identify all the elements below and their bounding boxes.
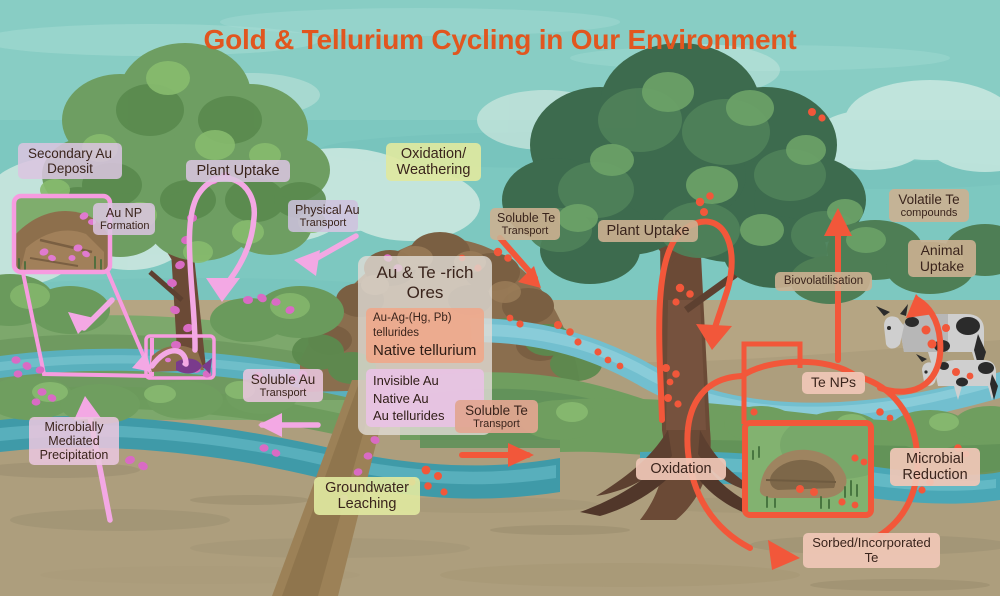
label-soluble-au-transport-main: Soluble Au xyxy=(250,372,316,387)
label-animal-uptake: AnimalUptake xyxy=(908,240,976,277)
label-plant-uptake-left: Plant Uptake xyxy=(186,160,290,182)
label-microbially-mediated-precipitation-main: Microbially xyxy=(36,420,112,434)
label-plant-uptake-right-main: Plant Uptake xyxy=(605,223,691,239)
label-oxidation: Oxidation xyxy=(636,458,726,480)
label-secondary-au-deposit: Secondary AuDeposit xyxy=(18,143,122,179)
ore-panel-title: Au & Te -rich Ores xyxy=(366,262,484,308)
label-microbially-mediated-precipitation-line2: Mediated xyxy=(36,434,112,448)
te-mineral-line-1: Au-Ag-(Hg, Pb) tellurides xyxy=(373,311,477,341)
label-soluble-te-transport-upper-main: Soluble Te xyxy=(497,211,553,225)
label-biovolatilisation: Biovolatilisation xyxy=(775,272,872,291)
label-soluble-te-transport-upper: Soluble TeTransport xyxy=(490,208,560,240)
label-volatile-te-compounds-main: Volatile Te xyxy=(896,192,962,207)
label-te-nps-main: Te NPs xyxy=(809,375,858,391)
label-microbially-mediated-precipitation: MicrobiallyMediatedPrecipitation xyxy=(29,417,119,465)
tellurium-minerals-group: Au-Ag-(Hg, Pb) tellurides Native telluri… xyxy=(366,308,484,363)
label-volatile-te-compounds: Volatile Tecompounds xyxy=(889,189,969,222)
label-soluble-au-transport: Soluble AuTransport xyxy=(243,369,323,402)
label-physical-au-transport-main: Physical Au xyxy=(295,203,351,217)
label-microbially-mediated-precipitation-line3: Precipitation xyxy=(36,448,112,462)
label-biovolatilisation-main: Biovolatilisation xyxy=(782,275,865,288)
label-microbial-reduction-main: Microbial xyxy=(897,451,973,467)
label-te-nps: Te NPs xyxy=(802,372,865,394)
label-physical-au-transport-sub: Transport xyxy=(295,217,351,229)
diagram-canvas: Gold & Tellurium Cycling in Our Environm… xyxy=(0,0,1000,596)
label-secondary-au-deposit-line2: Deposit xyxy=(25,161,115,176)
label-soluble-te-transport-lower-main: Soluble Te xyxy=(462,403,531,418)
label-soluble-te-transport-lower: Soluble TeTransport xyxy=(455,400,538,433)
label-oxidation-weathering-line2: Weathering xyxy=(393,162,474,178)
label-microbial-reduction-line2: Reduction xyxy=(897,467,973,483)
label-groundwater-leaching-main: Groundwater xyxy=(321,480,413,496)
label-groundwater-leaching-line2: Leaching xyxy=(321,496,413,512)
label-au-np-formation-sub: Formation xyxy=(100,220,148,232)
label-sorbed-incorporated-te: Sorbed/IncorporatedTe xyxy=(803,533,940,568)
label-oxidation-main: Oxidation xyxy=(643,461,719,477)
label-sorbed-incorporated-te-line2: Te xyxy=(810,551,933,566)
label-volatile-te-compounds-sub: compounds xyxy=(896,207,962,219)
page-title: Gold & Tellurium Cycling in Our Environm… xyxy=(0,24,1000,56)
label-animal-uptake-line2: Uptake xyxy=(915,259,969,275)
label-physical-au-transport: Physical AuTransport xyxy=(288,200,358,232)
label-microbial-reduction: MicrobialReduction xyxy=(890,448,980,486)
label-animal-uptake-main: Animal xyxy=(915,243,969,259)
label-soluble-te-transport-lower-sub: Transport xyxy=(462,418,531,430)
au-mineral-line-1: Invisible Au xyxy=(373,372,477,389)
label-groundwater-leaching: GroundwaterLeaching xyxy=(314,477,420,515)
label-oxidation-weathering-main: Oxidation/ xyxy=(393,146,474,162)
label-soluble-te-transport-upper-sub: Transport xyxy=(497,225,553,237)
label-sorbed-incorporated-te-main: Sorbed/Incorporated xyxy=(810,536,933,551)
label-plant-uptake-right: Plant Uptake xyxy=(598,220,698,242)
label-oxidation-weathering: Oxidation/Weathering xyxy=(386,143,481,181)
te-mineral-line-2: Native tellurium xyxy=(373,341,477,361)
label-plant-uptake-left-main: Plant Uptake xyxy=(193,163,283,179)
label-secondary-au-deposit-main: Secondary Au xyxy=(25,146,115,161)
label-au-np-formation-main: Au NP xyxy=(100,206,148,220)
label-au-np-formation: Au NPFormation xyxy=(93,203,155,235)
label-soluble-au-transport-sub: Transport xyxy=(250,387,316,399)
